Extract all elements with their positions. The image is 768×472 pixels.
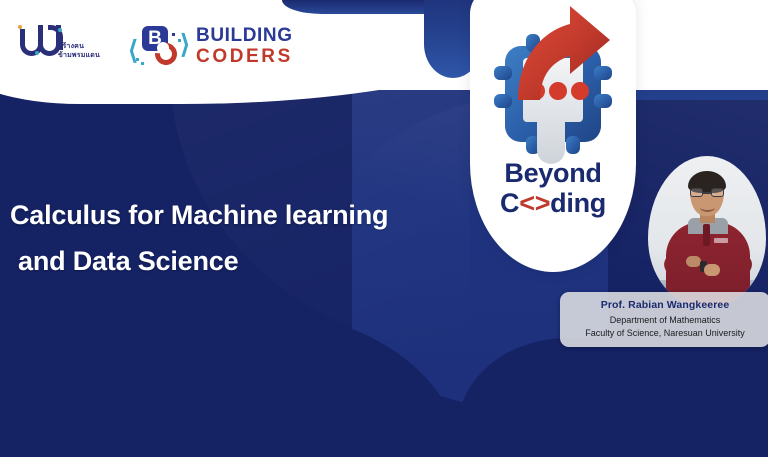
building-coders-mark-icon: ⟨ ⟩ B bbox=[128, 25, 190, 67]
header-logo-row: สร้างคน ข้ามพรมแดน ⟨ ⟩ B BUILDING CODERS bbox=[14, 22, 293, 70]
figure-shirt-placket bbox=[703, 224, 710, 246]
beyond-coding-word-coding: C<>ding bbox=[470, 190, 636, 217]
chevron-right-icon: ⟩ bbox=[180, 31, 190, 57]
letter-c-arc-mask bbox=[157, 42, 169, 54]
bottom-white-strip bbox=[0, 457, 768, 472]
slide-title-line-1: Calculus for Machine learning bbox=[10, 192, 460, 238]
building-coders-logo: ⟨ ⟩ B BUILDING CODERS bbox=[128, 23, 293, 69]
slide-title-line-2: and Data Science bbox=[10, 238, 460, 284]
presenter-info-card: Prof. Rabian Wangkeeree Department of Ma… bbox=[560, 292, 768, 347]
glasses-icon bbox=[690, 188, 724, 198]
thai-logo-tagline: สร้างคน ข้ามพรมแดน bbox=[58, 43, 100, 60]
pixel-dot-icon bbox=[172, 33, 175, 36]
figure-smile bbox=[700, 203, 715, 212]
beyond-coding-c: C bbox=[500, 188, 519, 218]
presenter-department: Department of Mathematics bbox=[570, 315, 760, 325]
building-coders-word-building: BUILDING bbox=[196, 26, 293, 45]
thai-partner-logo: สร้างคน ข้ามพรมแดน bbox=[14, 23, 106, 69]
thai-logo-tagline-line-1: สร้างคน bbox=[58, 43, 100, 52]
pixel-dot-icon bbox=[141, 62, 144, 65]
presenter-name: Prof. Rabian Wangkeeree bbox=[570, 299, 760, 311]
figure-hand-left bbox=[704, 264, 720, 276]
presenter-photo-oval bbox=[648, 156, 766, 306]
beyond-coding-word-beyond: Beyond bbox=[470, 160, 636, 187]
presenter-faculty: Faculty of Science, Naresuan University bbox=[570, 328, 760, 338]
building-coders-word-coders: CODERS bbox=[196, 47, 293, 66]
pixel-dot-icon bbox=[136, 58, 139, 61]
figure-hand-right bbox=[686, 256, 701, 267]
beyond-coding-wordmark: Beyond C<>ding bbox=[470, 160, 636, 217]
beyond-coding-ding: ding bbox=[550, 188, 606, 218]
pixel-dot-icon bbox=[178, 39, 181, 42]
beyond-coding-logo-panel: Beyond C<>ding bbox=[470, 0, 636, 272]
presenter-photo bbox=[648, 156, 766, 306]
thai-logo-tagline-line-2: ข้ามพรมแดน bbox=[58, 52, 100, 61]
code-brackets-icon: <> bbox=[519, 188, 550, 218]
presentation-slide: สร้างคน ข้ามพรมแดน ⟨ ⟩ B BUILDING CODERS bbox=[0, 0, 768, 472]
building-coders-wordmark: BUILDING CODERS bbox=[196, 26, 293, 66]
slide-title: Calculus for Machine learning and Data S… bbox=[10, 192, 460, 284]
figure-shirt-logo bbox=[714, 238, 728, 243]
beyond-coding-mark-icon bbox=[470, 0, 636, 272]
